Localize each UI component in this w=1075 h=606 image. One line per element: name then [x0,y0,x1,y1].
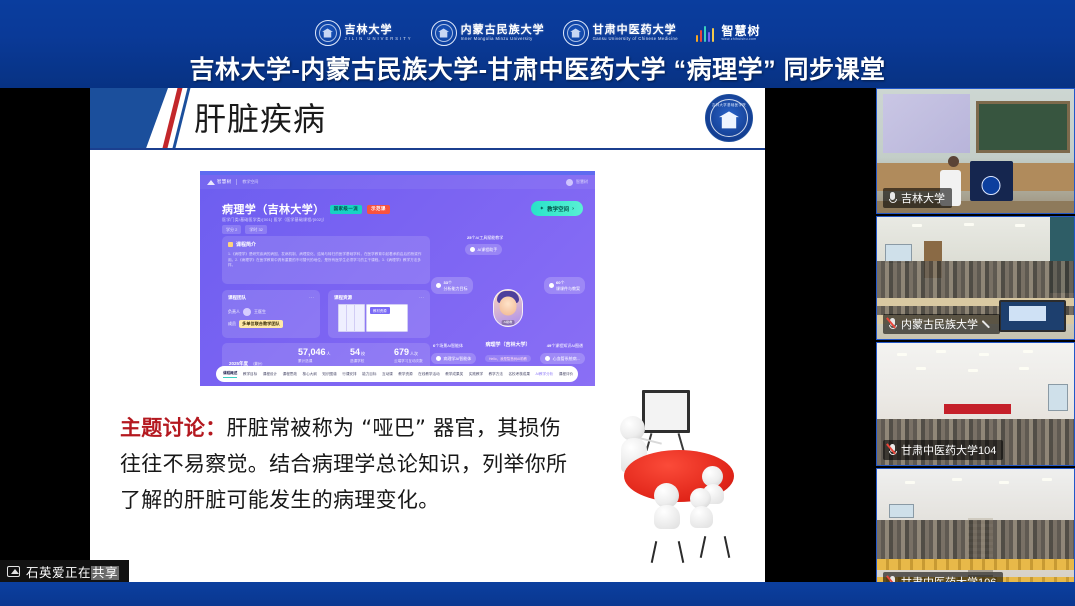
stat-value: 57,046人 [298,348,331,357]
tab-teaching-goal[interactable]: 教学目标 [243,372,257,377]
podium [970,161,1013,201]
ai-node-49-label: 49个课程知识AI图谱 [547,343,583,349]
logo-inner-mongolia-minzu-university: 内蒙古民族大学 Inner Mongolia Minzu University [431,20,545,46]
stat-label: 累计选课 [298,359,331,364]
discussion-line-2: 往往不易察觉。结合病理学总论知识，列举你所 [120,446,632,482]
ai-node-33: 33个分析能力目标 [444,280,468,292]
team-leader-name: 王医生 [254,309,266,315]
sparkle-icon [470,247,475,252]
logo-jilin-university: 吉林大学 JILIN UNIVERSITY [315,20,413,46]
team-highlight: 多单位联合教学团队 [239,320,283,328]
team-card-title: 课程团队 [228,295,246,301]
logo-zhihuishu: 智慧树 www.zhihuishu.com [696,24,761,42]
intro-title: 课程简介 [236,241,256,248]
whiteboard-leg [678,433,685,451]
badge-national-course: 国家级一流 [330,205,363,214]
brand-mark-icon [207,180,215,185]
tab-assessment[interactable]: 名校考核成果 [508,372,530,377]
whiteboard-icon [642,390,690,433]
tile-label-text: 吉林大学 [901,190,945,206]
ai-assistant-avatar[interactable]: AI助教 [493,289,523,327]
chair-leg [700,536,707,558]
video-tile-jilin[interactable]: 吉林大学 [876,88,1075,214]
tile-label-text: 内蒙古民族大学 [901,316,978,332]
sparkle-icon [436,283,441,288]
logo-name-cn: 甘肃中医药大学 [593,25,678,37]
logo-name-cn: 智慧树 [721,25,760,38]
tab-ability-goal[interactable]: 能力目标 [362,372,376,377]
chip-hours: 学时 32 [245,225,267,234]
tile-label-text: 甘肃中医药大学104 [901,442,996,458]
tab-practice[interactable]: 实践教学 [469,372,483,377]
tile-label: 甘肃中医药大学104 [883,440,1003,460]
sparkle-icon [436,356,441,361]
stat-label: 选课学校 [350,359,369,364]
ai-hello-bubble: Hello，我是智慧树AI助教 [485,355,531,362]
logo-url: www.zhihuishu.com [721,38,760,42]
banner-title: 吉林大学-内蒙古民族大学-甘肃中医药大学 “病理学” 同步课堂 [0,50,1075,86]
clipart-participant-right [690,488,713,528]
intro-title-row: 课程简介 [228,241,424,248]
resource-card-more-icon[interactable]: ··· [419,295,424,301]
video-tile-inner-mongolia[interactable]: 内蒙古民族大学 [876,216,1075,340]
ai-node-assistant[interactable]: AI课程助手 [465,244,502,255]
chair-leg [678,541,685,563]
right-letterbox [765,88,872,582]
tab-course-overview[interactable]: 课程概述 [223,371,237,378]
plus-icon: ✦ [540,206,545,212]
tab-schedule[interactable]: 行课安排 [342,372,356,377]
intro-marker-icon [228,242,233,247]
tile-label: 吉林大学 [883,188,952,208]
mic-muted-icon [888,444,897,457]
discussion-label: 主题讨论： [120,416,227,440]
slide-title: 肝脏疾病 [194,94,326,140]
avatar-face [500,297,517,316]
team-card-more-icon[interactable]: ··· [309,295,314,301]
discussion-line-1: 肝脏常被称为 “哑巴” 器官，其损伤 [227,416,562,440]
stat-value: 679人次 [394,348,423,357]
ai-node-ability[interactable]: 33个分析能力目标 [431,277,473,294]
logo-name-cn: 内蒙古民族大学 [461,25,545,37]
logo-name-en: Inner Mongolia Minzu University [461,37,545,41]
zhihuishu-bars-icon [696,24,715,42]
ai-node-courseware[interactable]: 60个课课件与教案 [544,277,586,294]
blackboard [976,101,1071,153]
slide-university-seal-icon: 吉林大学基础医学院 [705,94,753,142]
left-letterbox [0,88,90,582]
bottom-bar [0,582,1075,606]
tab-interactive[interactable]: 互动课 [382,372,393,377]
embedded-course-dashboard: 智慧树 教学空间 智慧树 病理学（吉林大学） 国家级一流 示范课 医学门类/基础… [200,171,595,386]
teaching-space-label: 教学空间 [547,205,569,213]
resource-tag: 教材资源 [370,307,390,314]
ai-node-agent[interactable]: 病理学AI智能体 [431,353,476,364]
slide-header: 肝脏疾病 吉林大学基础医学院 [90,88,765,150]
brand-name: 智慧树 [217,179,231,185]
logo-name-cn: 吉林大学 [345,25,413,37]
sparkle-icon [545,356,550,361]
projection-screen [883,94,970,154]
share-status-text: 石英爱正在共享 [26,562,119,581]
resource-card-title: 课程资源 [334,295,352,301]
screen-share-status: 石英爱正在共享 [0,560,129,582]
ai-node-6-label: 6个场景AI智能体 [433,343,463,349]
slide-header-shape [90,88,168,148]
mic-muted-icon [888,318,897,331]
dashboard-breadcrumb: 教学空间 [242,179,258,185]
intro-body: 1.《病理学》是研究疾病的病因、发病机制、病理变化、结局与转归的医学基础学科，在… [228,252,424,269]
logo-name-en: JILIN UNIVERSITY [345,37,413,41]
tab-online-activities[interactable]: 在线教学活动 [418,372,440,377]
tab-teaching-method[interactable]: 教学方法 [489,372,503,377]
course-chip-row: 学分 2 学时 32 [222,225,267,234]
avatar[interactable] [566,179,573,186]
clipart-participant-front [654,483,680,529]
team-members-label: 成员 [228,321,236,327]
university-seal-icon [563,20,589,46]
team-leader-row: 负责人 王医生 [228,308,266,316]
broadcast-banner: 吉林大学 JILIN UNIVERSITY 内蒙古民族大学 Inner Mong… [0,0,1075,88]
dashboard-topbar: 智慧树 教学空间 智慧树 [200,175,595,189]
shared-slide: 肝脏疾病 吉林大学基础医学院 智慧树 教学空间 智慧树 病理学（吉林大学 [90,88,765,582]
tab-ai-analysis[interactable]: AI教学分析 [536,372,554,377]
chip-credits: 学分 2 [222,225,241,234]
lecturer-head [948,156,959,167]
tab-course-design[interactable]: 课程设计 [263,372,277,377]
video-tile-gansu-106[interactable]: 甘肃中医药大学106 [876,468,1075,598]
stat-label: 云端学习互动次数 [394,359,423,364]
tab-course-review[interactable]: 课程评价 [559,372,573,377]
discussion-text: 主题讨论：肝脏常被称为 “哑巴” 器官，其损伤 往往不易察觉。结合病理学总论知识… [120,410,632,518]
course-meta: 医学门类/基础医学类/[001] 医学（医学基础课程/[002]） [222,217,327,223]
dashboard-brand: 智慧树 [207,179,231,185]
course-title: 病理学（吉林大学） [222,201,325,217]
stat-value: 54校 [350,348,369,357]
teaching-space-button[interactable]: ✦ 教学空间 › [531,201,583,216]
tab-course-ideology[interactable]: 课程思政 [283,372,297,377]
chevron-right-icon: › [572,206,574,212]
tab-knowledge-graph[interactable]: 知识图谱 [322,372,336,377]
team-members-row: 成员 多单位联合教学团队 [228,320,283,328]
screen-root: 吉林大学 JILIN UNIVERSITY 内蒙古民族大学 Inner Mong… [0,0,1075,606]
university-seal-icon [431,20,457,46]
tab-teaching-awards[interactable]: 教学成果奖 [445,372,463,377]
banner-logo-row: 吉林大学 JILIN UNIVERSITY 内蒙古民族大学 Inner Mong… [0,16,1075,50]
participant-video-grid: 吉林大学 内蒙古民族大学 [872,88,1075,606]
tab-core-syllabus[interactable]: 核心大纲 [303,372,317,377]
ai-node-25-label: 25个AI工具赋能教学 [467,235,503,241]
logo-gansu-university-chinese-medicine: 甘肃中医药大学 Gansu University of Chinese Medi… [563,20,678,46]
topbar-divider [236,179,237,185]
chair-leg [724,536,731,558]
pencil-icon[interactable] [982,319,993,330]
mic-on-icon [888,192,897,205]
user-name: 智慧树 [576,179,588,185]
figure-body [690,506,713,528]
course-title-row: 病理学（吉林大学） 国家级一流 示范课 [222,201,390,217]
ai-center-name: 病理学（吉林大学） [485,341,530,348]
badge-demo-course: 示范课 [367,205,390,214]
team-leader-label: 负责人 [228,309,240,315]
course-resource-card[interactable]: 课程资源 ··· 教材资源 [328,290,430,338]
dashboard-tab-bar[interactable]: 课程概述 教学目标 课程设计 课程思政 核心大纲 知识图谱 行课安排 能力目标 … [216,366,578,382]
avatar [243,308,251,316]
chair-leg [651,541,658,563]
classroom-monitor [999,300,1066,332]
discussion-line-3: 了解的肝脏可能发生的病理变化。 [120,482,632,518]
tab-teaching-resources[interactable]: 教学资源 [398,372,412,377]
sparkle-icon [549,283,554,288]
tile-label: 内蒙古民族大学 [883,314,1000,334]
course-intro-card: 课程简介 1.《病理学》是研究疾病的病因、发病机制、病理变化、结局与转归的医学基… [222,236,430,284]
group-discussion-clipart [618,388,758,550]
ai-hub: 25个AI工具赋能教学 AI课程助手 33个分析能力目标 60个课课件与教案 [433,235,583,375]
screen-share-icon [7,566,20,577]
ai-node-graph[interactable]: 心血管系统病... [540,353,585,364]
figure-body [654,505,680,529]
course-team-card[interactable]: 课程团队 ··· 负责人 王医生 成员 多单位联合教学团队 [222,290,320,338]
video-tile-gansu-104[interactable]: 甘肃中医药大学104 [876,342,1075,466]
ai-assistant-tag: AI助教 [502,320,515,325]
ai-node-60: 60个课课件与教案 [556,280,580,292]
logo-name-en: Gansu University of Chinese Medicine [593,37,678,41]
seal-caption: 吉林大学基础医学院 [712,102,746,107]
university-seal-icon [315,20,341,46]
